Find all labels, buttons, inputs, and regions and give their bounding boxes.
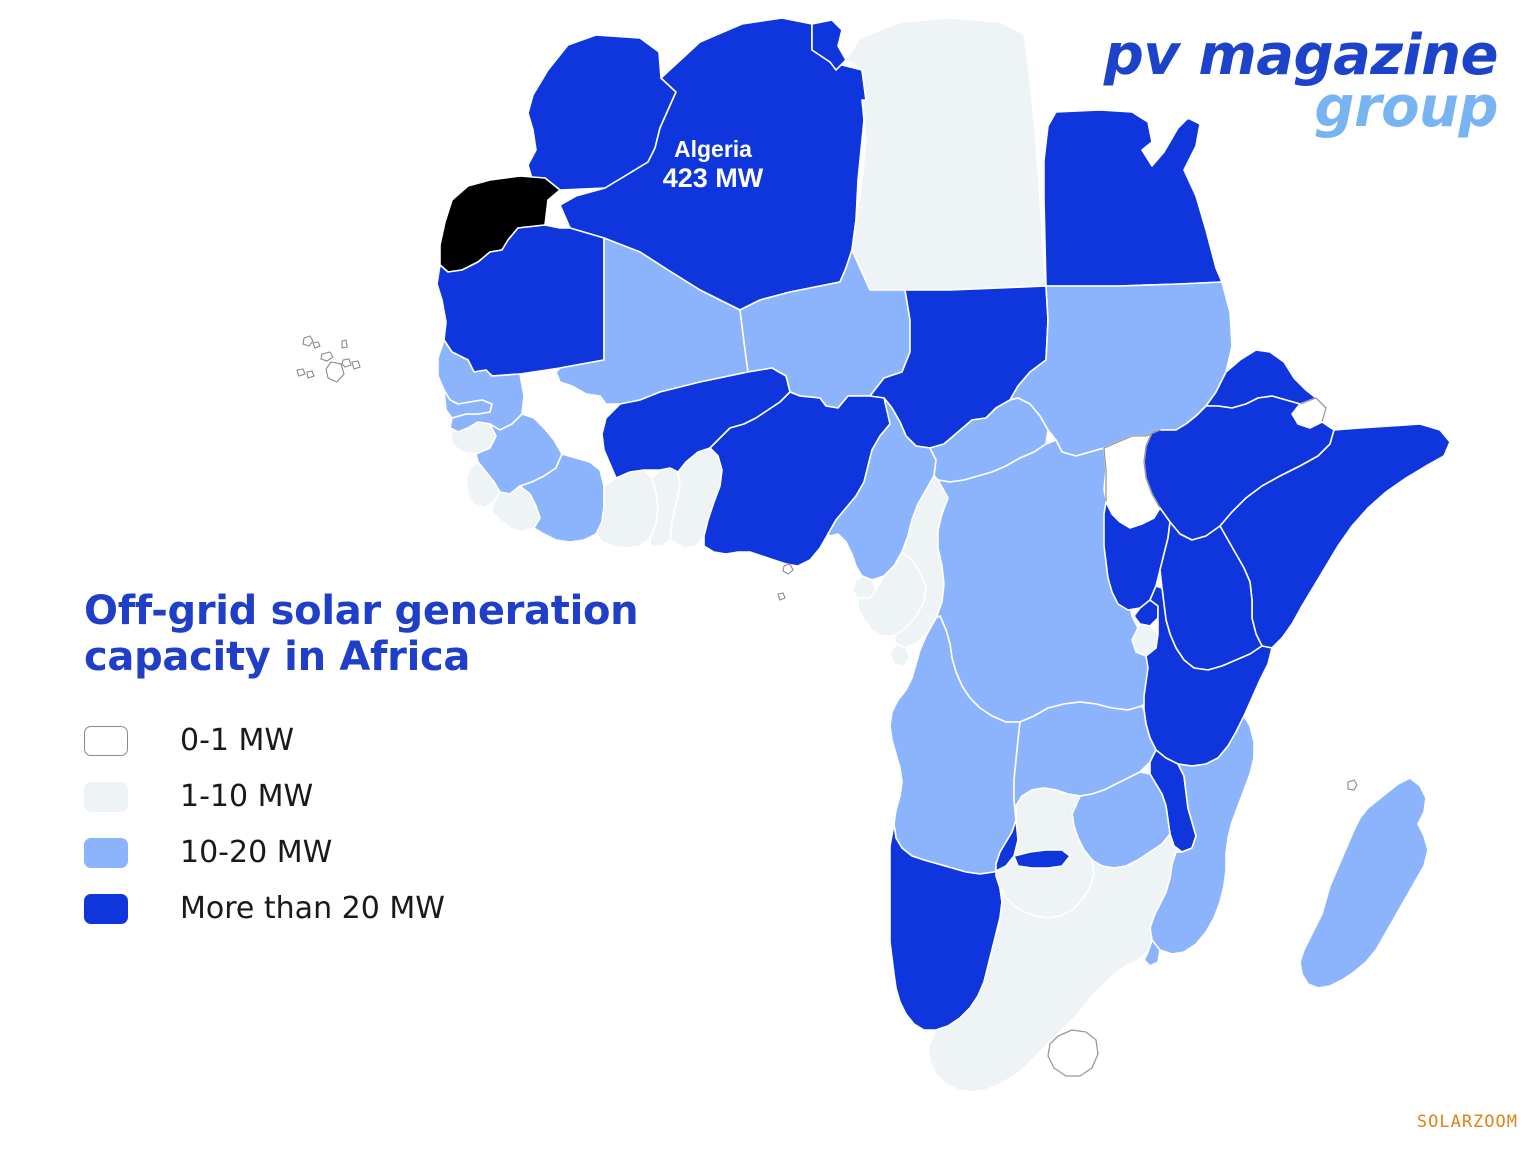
- region-egypt[interactable]: [1044, 110, 1222, 286]
- legend-label-more-than-20mw: More than 20 MW: [180, 891, 445, 926]
- algeria-callout: Algeria 423 MW: [663, 136, 764, 193]
- infographic-map-page: Algeria 423 MW pv magazine group Off-gri…: [0, 0, 1536, 1152]
- legend-block: Off-grid solar generation capacity in Af…: [84, 588, 644, 939]
- legend-swatch-0-1mw: [84, 726, 128, 756]
- legend-title: Off-grid solar generation capacity in Af…: [84, 588, 644, 681]
- legend-swatch-more-than-20mw: [84, 894, 128, 924]
- callout-country-name: Algeria: [674, 136, 752, 162]
- legend-swatch-10-20mw: [84, 838, 128, 868]
- legend-swatch-1-10mw: [84, 782, 128, 812]
- legend-row-1-10mw[interactable]: 1-10 MW: [84, 771, 644, 823]
- legend-row-0-1mw[interactable]: 0-1 MW: [84, 715, 644, 767]
- legend-label-10-20mw: 10-20 MW: [180, 835, 332, 870]
- region-ghana[interactable]: [596, 470, 658, 548]
- region-madagascar[interactable]: [1300, 778, 1428, 988]
- legend-row-more-than-20mw[interactable]: More than 20 MW: [84, 883, 644, 935]
- callout-value: 423 MW: [663, 163, 764, 193]
- pv-magazine-group-logo[interactable]: pv magazine group: [1104, 30, 1498, 134]
- africa-choropleth-map: Algeria 423 MW: [0, 0, 1536, 1152]
- legend-label-1-10mw: 1-10 MW: [180, 779, 313, 814]
- solarzoom-watermark: SOLARZOOM: [1417, 1112, 1518, 1132]
- islands-cape-verde[interactable]: [297, 336, 360, 382]
- region-libya[interactable]: [846, 18, 1046, 290]
- legend-label-0-1mw: 0-1 MW: [180, 723, 294, 758]
- legend-row-10-20mw[interactable]: 10-20 MW: [84, 827, 644, 879]
- island-comoros[interactable]: [1348, 780, 1357, 790]
- island-principe[interactable]: [778, 593, 785, 600]
- logo-line-secondary: group: [1104, 82, 1498, 134]
